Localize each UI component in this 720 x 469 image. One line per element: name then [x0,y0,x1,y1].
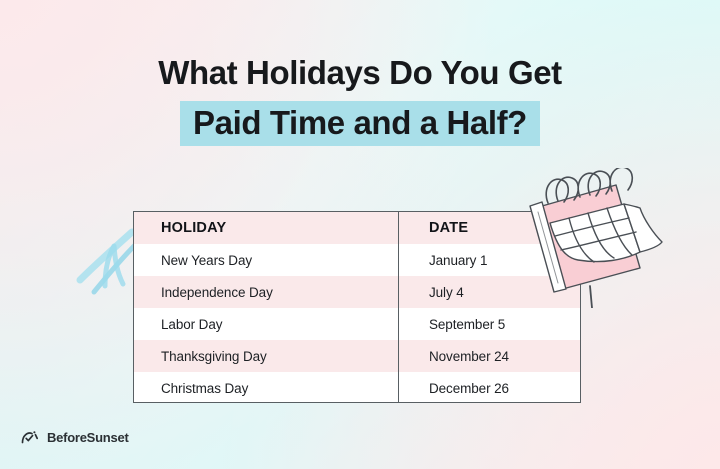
brand-name: BeforeSunset [47,430,129,445]
beforesunset-arc-check-icon [21,430,42,445]
cell-date: January 1 [399,244,582,276]
poster-canvas: What Holidays Do You Get Paid Time and a… [0,0,720,469]
page-title: What Holidays Do You Get Paid Time and a… [0,52,720,146]
table-row: Christmas Day December 26 [134,372,581,403]
cell-holiday: Labor Day [134,308,399,340]
cell-holiday: New Years Day [134,244,399,276]
title-line-1: What Holidays Do You Get [0,52,720,94]
table-row: Labor Day September 5 [134,308,581,340]
brand-logo: BeforeSunset [21,430,129,445]
table-header-row: HOLIDAY DATE [134,212,581,244]
holidays-table: HOLIDAY DATE New Years Day January 1 Ind… [133,211,581,403]
table-row: New Years Day January 1 [134,244,581,276]
cell-date: December 26 [399,372,582,403]
cell-date: November 24 [399,340,582,372]
title-line-2-wrapper: Paid Time and a Half? [0,101,720,146]
cell-holiday: Independence Day [134,276,399,308]
title-line-2-highlighted: Paid Time and a Half? [180,101,540,146]
table-row: Independence Day July 4 [134,276,581,308]
cell-holiday: Christmas Day [134,372,399,403]
cell-date: September 5 [399,308,582,340]
cell-holiday: Thanksgiving Day [134,340,399,372]
column-header-date: DATE [399,212,582,244]
cell-date: July 4 [399,276,582,308]
column-header-holiday: HOLIDAY [134,212,399,244]
table-row: Thanksgiving Day November 24 [134,340,581,372]
